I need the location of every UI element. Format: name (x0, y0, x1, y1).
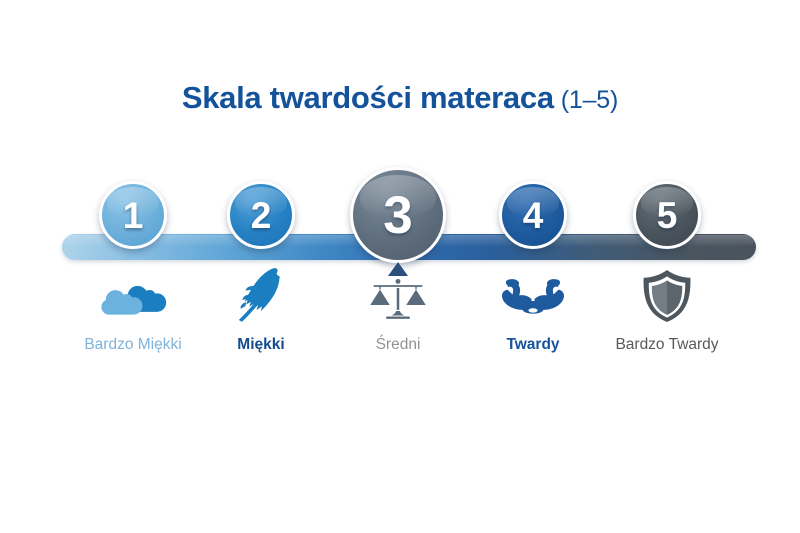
flexed-biceps-icon (499, 270, 567, 322)
balance-scales-icon (364, 270, 432, 322)
step-number-1: 1 (123, 197, 144, 234)
shield-icon (633, 268, 701, 324)
step-label-3: Średni (376, 336, 421, 354)
page-title: Skala twardości materaca(1–5) (0, 80, 800, 116)
step-circle-1[interactable]: 1 (99, 181, 167, 249)
step-label-5: Bardzo Twardy (615, 336, 718, 354)
step-circle-3[interactable]: 3 (350, 167, 446, 263)
step-circle-5[interactable]: 5 (633, 181, 701, 249)
step-number-4: 4 (523, 197, 544, 234)
step-number-5: 5 (657, 197, 678, 234)
mattress-firmness-infographic: Skala twardości materaca(1–5) 1 Bardzo M… (0, 0, 800, 533)
step-label-4: Twardy (506, 336, 559, 354)
title-range-text: (1–5) (561, 86, 618, 114)
step-circle-2[interactable]: 2 (227, 181, 295, 249)
step-label-2: Miękki (237, 336, 284, 354)
cloud-icon (99, 272, 167, 322)
title-main-text: Skala twardości materaca (182, 80, 554, 115)
feather-icon (227, 268, 295, 322)
step-number-3: 3 (383, 189, 412, 242)
step-label-1: Bardzo Miękki (84, 336, 181, 354)
step-number-2: 2 (251, 197, 272, 234)
step-circle-4[interactable]: 4 (499, 181, 567, 249)
